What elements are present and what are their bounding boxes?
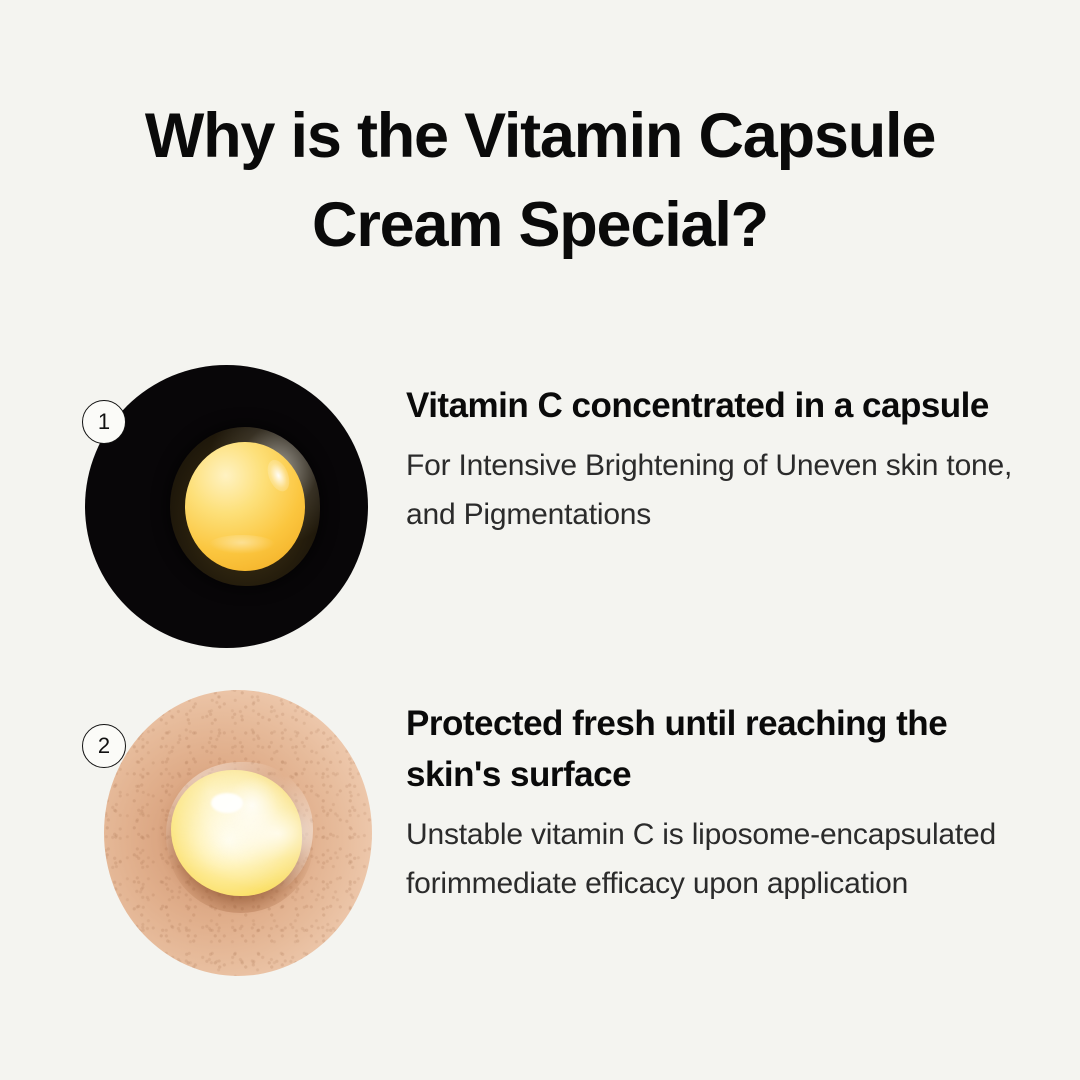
feature-2-body: Unstable vitamin C is liposome-encapsula… [406,811,1018,908]
feature-number-label-1: 1 [98,411,110,433]
feature-1-copy: Vitamin C concentrated in a capsule For … [406,380,1018,539]
burst-capsule-highlight-shape [211,793,243,813]
page-title: Why is the Vitamin Capsule Cream Special… [60,92,1020,271]
feature-number-label-2: 2 [98,735,110,757]
feature-2-copy: Protected fresh until reaching the skin'… [406,698,1018,908]
feature-1-heading: Vitamin C concentrated in a capsule [406,380,1018,431]
feature-1-image-wrapper [85,365,368,648]
capsule-shell-shape [170,427,320,585]
feature-2-image-wrapper [104,690,372,976]
vitamin-capsule-on-black-photo [85,365,368,648]
infographic-page: Why is the Vitamin Capsule Cream Special… [0,0,1080,1080]
feature-2-heading: Protected fresh until reaching the skin'… [406,698,1018,800]
feature-number-badge-2: 2 [82,724,126,768]
feature-number-badge-1: 1 [82,400,126,444]
capsule-rim-shape [209,535,275,554]
feature-1-body: For Intensive Brightening of Uneven skin… [406,442,1018,539]
capsule-on-skin-photo [104,690,372,976]
